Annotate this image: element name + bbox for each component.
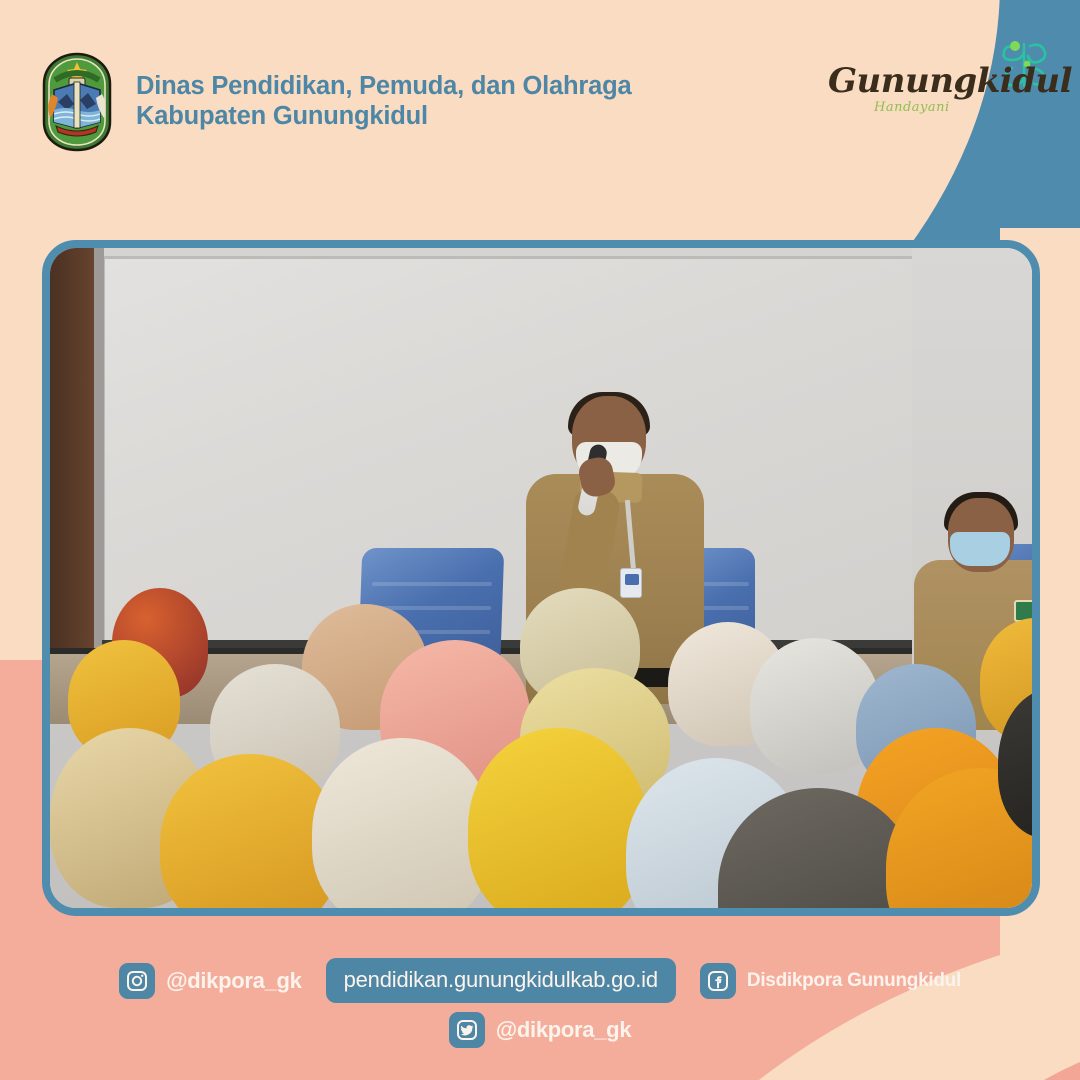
footer-social-row-primary: @dikpora_gk pendidikan.gunungkidulkab.go… (0, 958, 1080, 1003)
twitter-icon[interactable] (449, 1012, 485, 1048)
header: Dinas Pendidikan, Pemuda, dan Olahraga K… (40, 52, 631, 152)
twitter-handle: @dikpora_gk (496, 1017, 632, 1043)
coat-of-arms-icon (40, 52, 114, 152)
facebook-icon[interactable] (700, 963, 736, 999)
header-titles: Dinas Pendidikan, Pemuda, dan Olahraga K… (136, 72, 631, 131)
twitter-link[interactable]: @dikpora_gk (449, 1012, 632, 1048)
photo-card (42, 240, 1040, 916)
facebook-page-name: Disdikpora Gunungkidul (747, 970, 961, 992)
page-title-line-2: Kabupaten Gunungkidul (136, 102, 631, 132)
brand-tagline: Handayani (874, 100, 950, 115)
background-peach-left-strip (0, 228, 44, 665)
website-url-pill[interactable]: pendidikan.gunungkidulkab.go.id (326, 958, 676, 1003)
instagram-icon[interactable] (119, 963, 155, 999)
page-title-line-1: Dinas Pendidikan, Pemuda, dan Olahraga (136, 72, 631, 102)
face-mask (950, 532, 1010, 566)
facebook-link[interactable]: Disdikpora Gunungkidul (700, 963, 961, 999)
event-photo (50, 248, 1032, 908)
gunungkidul-brandmark: Gunungkidul Handayani (822, 36, 1052, 116)
brand-name: Gunungkidul (828, 64, 1072, 98)
instagram-link[interactable]: @dikpora_gk (119, 963, 302, 999)
footer-social-row-secondary: @dikpora_gk (0, 1012, 1080, 1048)
instagram-handle: @dikpora_gk (166, 968, 302, 994)
audience-crowd (50, 578, 1032, 908)
poster-canvas: Dinas Pendidikan, Pemuda, dan Olahraga K… (0, 0, 1080, 1080)
